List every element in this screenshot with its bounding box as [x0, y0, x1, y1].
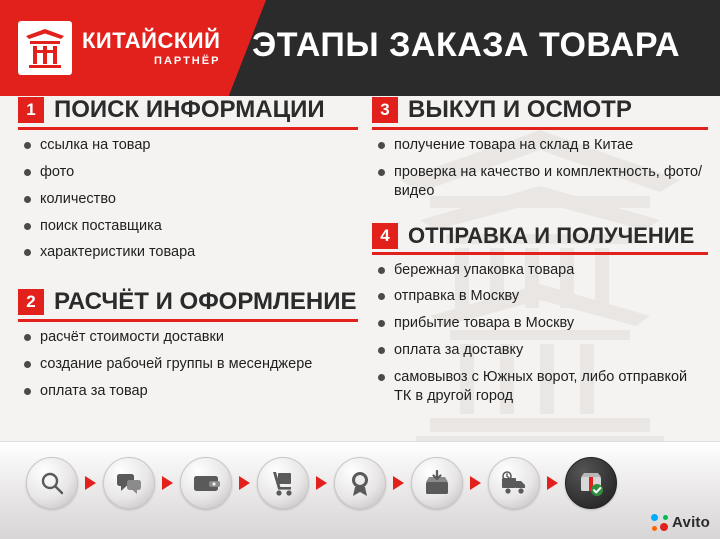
- list-item: оплата за товар: [18, 382, 358, 401]
- step-1: 1 ПОИСК ИНФОРМАЦИИ ссылка на товар фото …: [18, 96, 358, 262]
- step-1-list: ссылка на товар фото количество поиск по…: [18, 136, 358, 262]
- step-2-head: 2 РАСЧЁТ И ОФОРМЛЕНИЕ: [18, 288, 358, 316]
- process-icon-strip: Avito: [0, 441, 720, 539]
- step-3-list: получение товара на склад в Китае провер…: [372, 136, 708, 201]
- step-3-number: 3: [372, 97, 398, 123]
- column-left: 1 ПОИСК ИНФОРМАЦИИ ссылка на товар фото …: [18, 96, 358, 409]
- step-3-rule: [372, 127, 708, 130]
- strip-row: [26, 457, 617, 509]
- step-2-list: расчёт стоимости доставки создание рабоч…: [18, 328, 358, 401]
- arrow-icon: [316, 476, 327, 490]
- step-4-rule: [372, 252, 708, 255]
- arrow-icon: [85, 476, 96, 490]
- list-item: отправка в Москву: [372, 287, 708, 306]
- column-right: 3 ВЫКУП И ОСМОТР получение товара на скл…: [372, 96, 708, 414]
- list-item: получение товара на склад в Китае: [372, 136, 708, 155]
- step-1-rule: [18, 127, 358, 130]
- quality-badge-icon: [334, 457, 386, 509]
- step-4-head: 4 ОТПРАВКА И ПОЛУЧЕНИЕ: [372, 223, 708, 249]
- verified-parcel-icon: [565, 457, 617, 509]
- list-item: оплата за доставку: [372, 341, 708, 360]
- arrow-icon: [239, 476, 250, 490]
- delivery-truck-icon: [488, 457, 540, 509]
- wallet-icon: [180, 457, 232, 509]
- step-4-list: бережная упаковка товара отправка в Моск…: [372, 261, 708, 406]
- list-item: бережная упаковка товара: [372, 261, 708, 280]
- list-item: фото: [18, 163, 358, 182]
- arrow-icon: [393, 476, 404, 490]
- list-item: самовывоз с Южных ворот, либо отправкой …: [372, 368, 708, 406]
- list-item: количество: [18, 190, 358, 209]
- avito-label: Avito: [672, 514, 710, 531]
- step-1-number: 1: [18, 97, 44, 123]
- list-item: характеристики товара: [18, 243, 358, 262]
- step-2: 2 РАСЧЁТ И ОФОРМЛЕНИЕ расчёт стоимости д…: [18, 288, 358, 401]
- arrow-icon: [162, 476, 173, 490]
- hand-truck-icon: [257, 457, 309, 509]
- arrow-icon: [470, 476, 481, 490]
- step-3-head: 3 ВЫКУП И ОСМОТР: [372, 96, 708, 124]
- avito-logo-icon: [651, 514, 668, 531]
- chinese-gate-icon: [18, 21, 72, 75]
- logo-text: КИТАЙСКИЙ ПАРТНЁР: [82, 30, 220, 67]
- step-3-title: ВЫКУП И ОСМОТР: [408, 96, 632, 124]
- step-4-title: ОТПРАВКА И ПОЛУЧЕНИЕ: [408, 223, 694, 249]
- step-2-rule: [18, 319, 358, 322]
- chat-bubbles-icon: [103, 457, 155, 509]
- page-title: ЭТАПЫ ЗАКАЗА ТОВАРА: [252, 26, 680, 65]
- steps-content: 1 ПОИСК ИНФОРМАЦИИ ссылка на товар фото …: [0, 96, 720, 441]
- list-item: прибытие товара в Москву: [372, 314, 708, 333]
- step-1-head: 1 ПОИСК ИНФОРМАЦИИ: [18, 96, 358, 124]
- magnifier-icon: [26, 457, 78, 509]
- logo-line2: ПАРТНЁР: [82, 56, 220, 67]
- list-item: расчёт стоимости доставки: [18, 328, 358, 347]
- step-4-number: 4: [372, 223, 398, 249]
- list-item: создание рабочей группы в месенджере: [18, 355, 358, 374]
- logo-line1: КИТАЙСКИЙ: [82, 30, 220, 52]
- poster: ЭТАПЫ ЗАКАЗА ТОВАРА КИТАЙСКИЙ: [0, 0, 720, 539]
- step-2-number: 2: [18, 289, 44, 315]
- arrow-icon: [547, 476, 558, 490]
- step-2-title: РАСЧЁТ И ОФОРМЛЕНИЕ: [54, 288, 356, 316]
- logo-block: КИТАЙСКИЙ ПАРТНЁР: [0, 0, 266, 96]
- box-download-icon: [411, 457, 463, 509]
- step-4: 4 ОТПРАВКА И ПОЛУЧЕНИЕ бережная упаковка…: [372, 223, 708, 406]
- avito-watermark: Avito: [651, 514, 710, 531]
- list-item: ссылка на товар: [18, 136, 358, 155]
- step-1-title: ПОИСК ИНФОРМАЦИИ: [54, 96, 325, 124]
- list-item: проверка на качество и комплектность, фо…: [372, 163, 708, 201]
- list-item: поиск поставщика: [18, 217, 358, 236]
- header: ЭТАПЫ ЗАКАЗА ТОВАРА КИТАЙСКИЙ: [0, 0, 720, 96]
- step-3: 3 ВЫКУП И ОСМОТР получение товара на скл…: [372, 96, 708, 201]
